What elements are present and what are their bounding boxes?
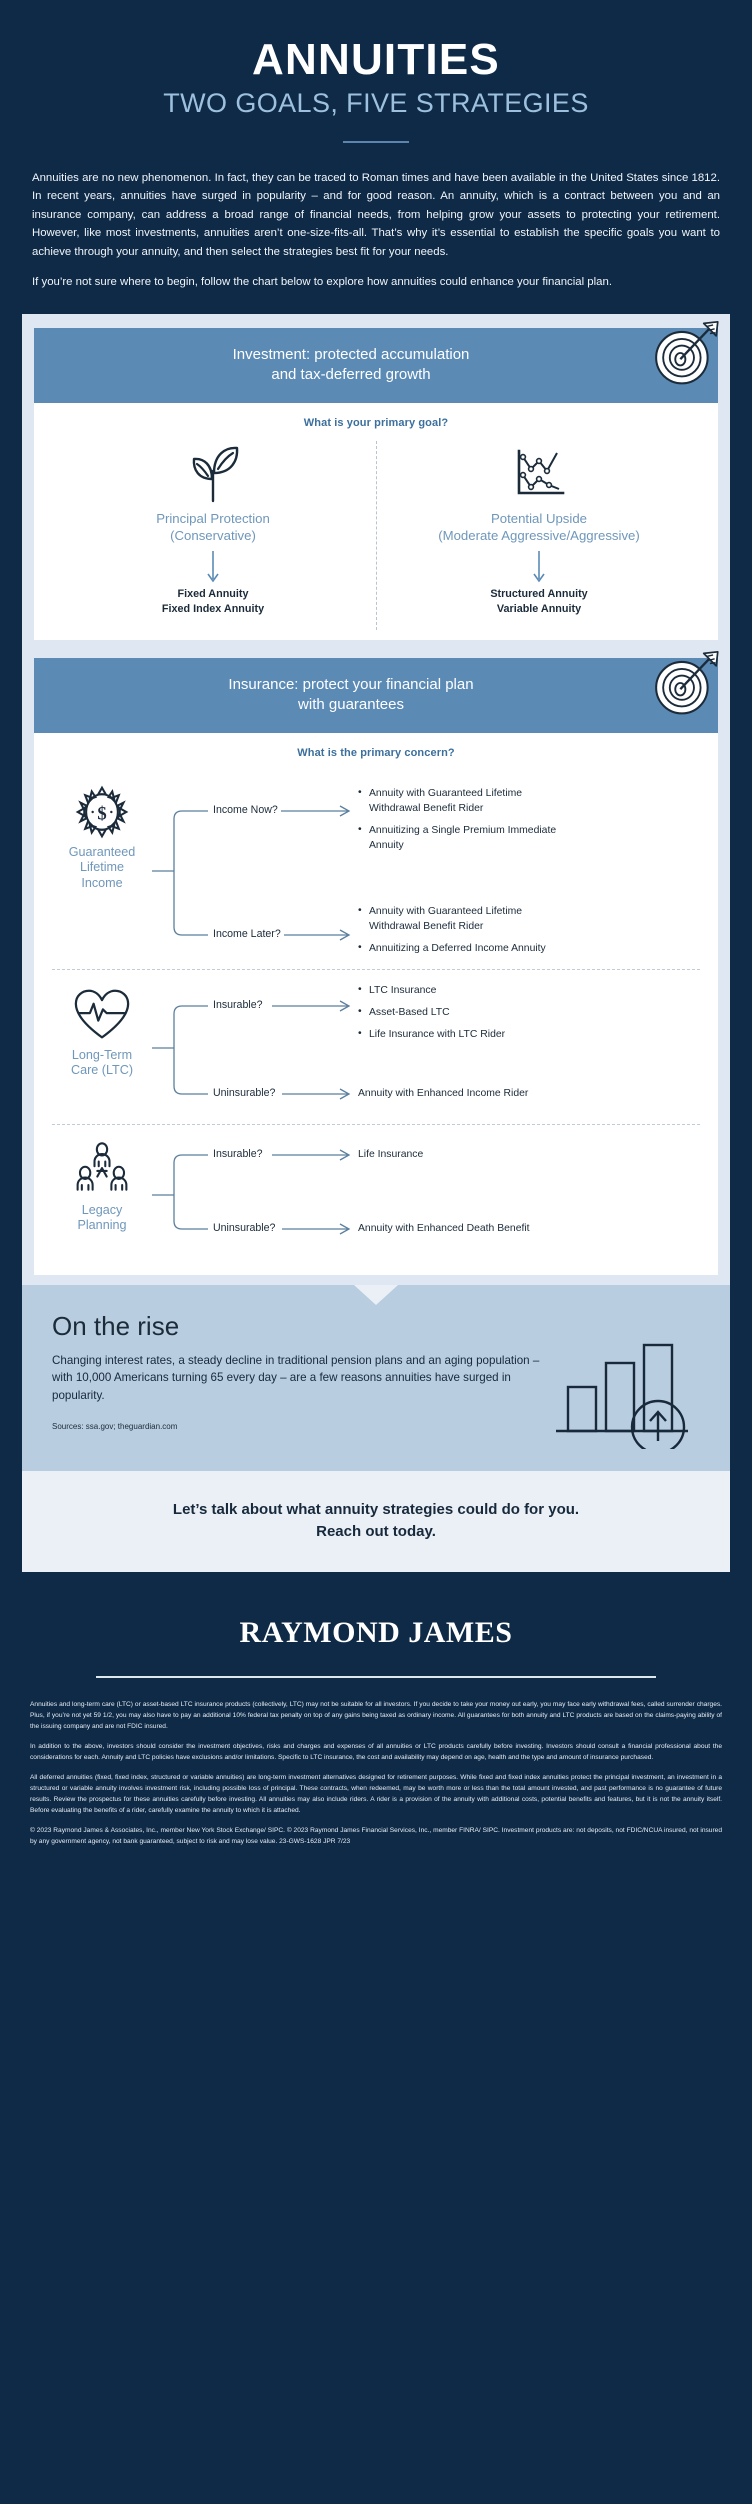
section-gap <box>34 640 718 658</box>
outcome-ltc-insurable: LTC Insurance Asset-Based LTC Life Insur… <box>358 984 588 1043</box>
on-the-rise-text: On the rise Changing interest rates, a s… <box>52 1311 550 1431</box>
insurance-section: Insurance: protect your financial plan w… <box>34 658 718 1275</box>
branch-label-insurable: Insurable? <box>210 1148 265 1160</box>
insurance-header-line1: Insurance: protect your financial plan <box>228 676 473 693</box>
investment-header-line2: and tax-deferred growth <box>271 366 430 383</box>
flowchart-card: Investment: protected accumulation and t… <box>22 314 730 1285</box>
intro-paragraph-2: If you’re not sure where to begin, follo… <box>32 273 720 291</box>
insurance-row-icon-col: Long-Term Care (LTC) <box>52 982 152 1079</box>
inv-out-line1: Fixed Annuity <box>178 588 249 600</box>
investment-outcome-principal-protection: Fixed Annuity Fixed Index Annuity <box>50 587 376 618</box>
on-the-rise-inner: On the rise Changing interest rates, a s… <box>52 1311 700 1449</box>
outcome-income-now: Annuity with Guaranteed Lifetime Withdra… <box>358 787 573 854</box>
target-arrow-icon <box>646 314 724 392</box>
name-line: Income <box>81 876 122 890</box>
intro-section: Annuities are no new phenomenon. In fact… <box>0 143 752 292</box>
page-title: ANNUITIES <box>40 38 712 83</box>
disclaimer-paragraph-2: In addition to the above, investors shou… <box>30 1742 722 1764</box>
leaf-icon <box>50 443 376 505</box>
down-arrow-icon <box>50 551 376 585</box>
name-line: Long-Term <box>72 1048 132 1062</box>
investment-section: Investment: protected accumulation and t… <box>34 328 718 640</box>
insurance-row-guaranteed-lifetime-income: $ Guaranteed Lifetime Income <box>52 767 700 969</box>
investment-label-potential-upside: Potential Upside (Moderate Aggressive/Ag… <box>376 511 702 545</box>
cta-section: Let’s talk about what annuity strategies… <box>22 1471 730 1573</box>
investment-columns: Principal Protection (Conservative) Fixe… <box>34 433 718 639</box>
insurance-row-icon-col: Legacy Planning <box>52 1137 152 1234</box>
outcome-item: Life Insurance with LTC Rider <box>358 1028 588 1043</box>
insurance-question: What is the primary concern? <box>34 733 718 763</box>
branch-label-uninsurable: Uninsurable? <box>210 1087 278 1099</box>
investment-header-line1: Investment: protected accumulation <box>233 346 470 363</box>
name-line: Guaranteed <box>69 845 136 859</box>
investment-question: What is your primary goal? <box>34 403 718 433</box>
heart-pulse-icon <box>52 986 152 1044</box>
insurance-row-name-long-term-care: Long-Term Care (LTC) <box>52 1048 152 1079</box>
insurance-header: Insurance: protect your financial plan w… <box>34 658 718 733</box>
branch-label-uninsurable: Uninsurable? <box>210 1222 278 1234</box>
branch-diagram: Income Now? Income Later? Annuity with G… <box>152 779 700 959</box>
disclaimer-section: Annuities and long-term care (LTC) or as… <box>0 1678 752 1877</box>
down-arrow-icon <box>376 551 702 585</box>
branch-diagram: Insurable? Uninsurable? Life Insurance A… <box>152 1137 700 1249</box>
name-line: Planning <box>77 1218 126 1232</box>
svg-text:$: $ <box>97 803 106 824</box>
inv-label-line2: (Moderate Aggressive/Aggressive) <box>438 528 640 543</box>
disclaimer-paragraph-4: © 2023 Raymond James & Associates, Inc.,… <box>30 1826 722 1848</box>
target-arrow-icon <box>646 644 724 722</box>
disclaimer-paragraph-1: Annuities and long-term care (LTC) or as… <box>30 1700 722 1733</box>
investment-label-principal-protection: Principal Protection (Conservative) <box>50 511 376 545</box>
hero-header: ANNUITIES TWO GOALS, FIVE STRATEGIES <box>0 0 752 143</box>
line-chart-icon <box>376 443 702 505</box>
on-the-rise-title: On the rise <box>52 1311 540 1342</box>
branch-label-income-later: Income Later? <box>210 928 284 940</box>
intro-paragraph-1: Annuities are no new phenomenon. In fact… <box>32 169 720 261</box>
outcome-legacy-uninsurable: Annuity with Enhanced Death Benefit <box>358 1222 588 1237</box>
branch-diagram: Insurable? Uninsurable? LTC Insurance As… <box>152 982 700 1114</box>
inv-out-line2: Variable Annuity <box>497 603 581 615</box>
on-the-rise-body: Changing interest rates, a steady declin… <box>52 1352 540 1404</box>
insurance-row-icon-col: $ Guaranteed Lifetime Income <box>52 779 152 891</box>
cta-line1: Let’s talk about what annuity strategies… <box>173 1501 579 1518</box>
inv-out-line2: Fixed Index Annuity <box>162 603 264 615</box>
branch-label-insurable: Insurable? <box>210 999 265 1011</box>
insurance-row-name-guaranteed-lifetime-income: Guaranteed Lifetime Income <box>52 845 152 891</box>
raymond-james-logo: RAYMOND JAMES <box>0 1616 752 1650</box>
inv-label-line2: (Conservative) <box>170 528 256 543</box>
insurance-header-line2: with guarantees <box>298 696 404 713</box>
outcome-item: Annuitizing a Deferred Income Annuity <box>358 942 573 957</box>
branch-label-income-now: Income Now? <box>210 804 281 816</box>
outcome-legacy-insurable: Life Insurance <box>358 1148 588 1163</box>
gear-dollar-icon: $ <box>52 783 152 841</box>
disclaimer-paragraph-3: All deferred annuities (fixed, fixed ind… <box>30 1773 722 1817</box>
name-line: Legacy <box>82 1203 123 1217</box>
brand-footer: RAYMOND JAMES <box>0 1572 752 1678</box>
on-the-rise-section: On the rise Changing interest rates, a s… <box>22 1285 730 1471</box>
investment-column-potential-upside: Potential Upside (Moderate Aggressive/Ag… <box>376 443 702 617</box>
insurance-rows: $ Guaranteed Lifetime Income <box>34 763 718 1275</box>
investment-header: Investment: protected accumulation and t… <box>34 328 718 403</box>
name-line: Lifetime <box>80 860 124 874</box>
inv-out-line1: Structured Annuity <box>490 588 587 600</box>
insurance-row-legacy-planning: Legacy Planning <box>52 1124 700 1259</box>
infographic-page: ANNUITIES TWO GOALS, FIVE STRATEGIES Ann… <box>0 0 752 2504</box>
investment-outcome-potential-upside: Structured Annuity Variable Annuity <box>376 587 702 618</box>
notch-triangle <box>354 1285 398 1305</box>
cta-line2: Reach out today. <box>316 1523 436 1540</box>
outcome-item: LTC Insurance <box>358 984 588 999</box>
on-the-rise-sources: Sources: ssa.gov; theguardian.com <box>52 1422 540 1431</box>
investment-column-principal-protection: Principal Protection (Conservative) Fixe… <box>50 443 376 617</box>
bar-chart-up-arrow-icon <box>550 1311 700 1449</box>
insurance-row-name-legacy-planning: Legacy Planning <box>52 1203 152 1234</box>
page-subtitle: TWO GOALS, FIVE STRATEGIES <box>40 88 712 119</box>
outcome-item: Annuity with Guaranteed Lifetime Withdra… <box>358 787 573 817</box>
outcome-item: Annuity with Guaranteed Lifetime Withdra… <box>358 905 573 935</box>
name-line: Care (LTC) <box>71 1063 133 1077</box>
outcome-income-later: Annuity with Guaranteed Lifetime Withdra… <box>358 905 573 957</box>
outcome-item: Asset-Based LTC <box>358 1006 588 1021</box>
inv-label-line1: Potential Upside <box>491 511 587 526</box>
inv-label-line1: Principal Protection <box>156 511 270 526</box>
outcome-item: Annuitizing a Single Premium Immediate A… <box>358 824 573 854</box>
flowchart-card-inner: Investment: protected accumulation and t… <box>22 314 730 1285</box>
cta-text: Let’s talk about what annuity strategies… <box>62 1499 690 1543</box>
insurance-row-long-term-care: Long-Term Care (LTC) <box>52 969 700 1124</box>
outcome-ltc-uninsurable: Annuity with Enhanced Income Rider <box>358 1087 588 1102</box>
family-icon <box>52 1141 152 1199</box>
